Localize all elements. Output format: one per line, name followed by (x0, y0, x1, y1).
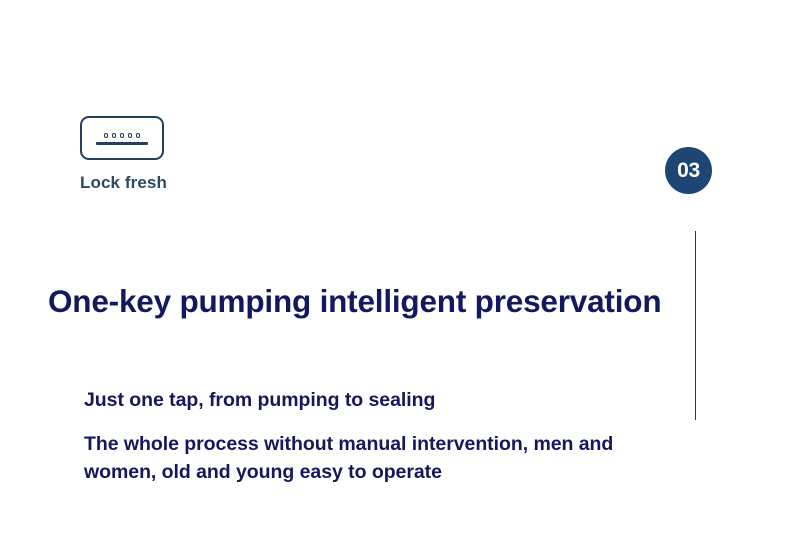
body-copy: Just one tap, from pumping to sealing Th… (84, 389, 684, 486)
page-title: One-key pumping intelligent preservation (48, 283, 661, 320)
lock-fresh-icon-dot (136, 133, 141, 138)
feature-caption: Lock fresh (80, 173, 260, 193)
lock-fresh-icon-dot (120, 133, 125, 138)
lock-fresh-icon-bar (96, 142, 148, 145)
lock-fresh-icon (80, 116, 164, 160)
feature-mark: Lock fresh (80, 116, 260, 193)
slide-canvas: Lock fresh 03 One-key pumping intelligen… (0, 0, 790, 554)
lock-fresh-icon-dot (112, 133, 117, 138)
body-lead-line: Just one tap, from pumping to sealing (84, 389, 684, 412)
lock-fresh-icon-dot (104, 133, 109, 138)
body-detail-line: The whole process without manual interve… (84, 431, 684, 486)
lock-fresh-icon-dot (128, 133, 133, 138)
section-number-badge: 03 (665, 147, 712, 194)
vertical-divider (695, 231, 696, 420)
lock-fresh-icon-dots (104, 133, 141, 138)
